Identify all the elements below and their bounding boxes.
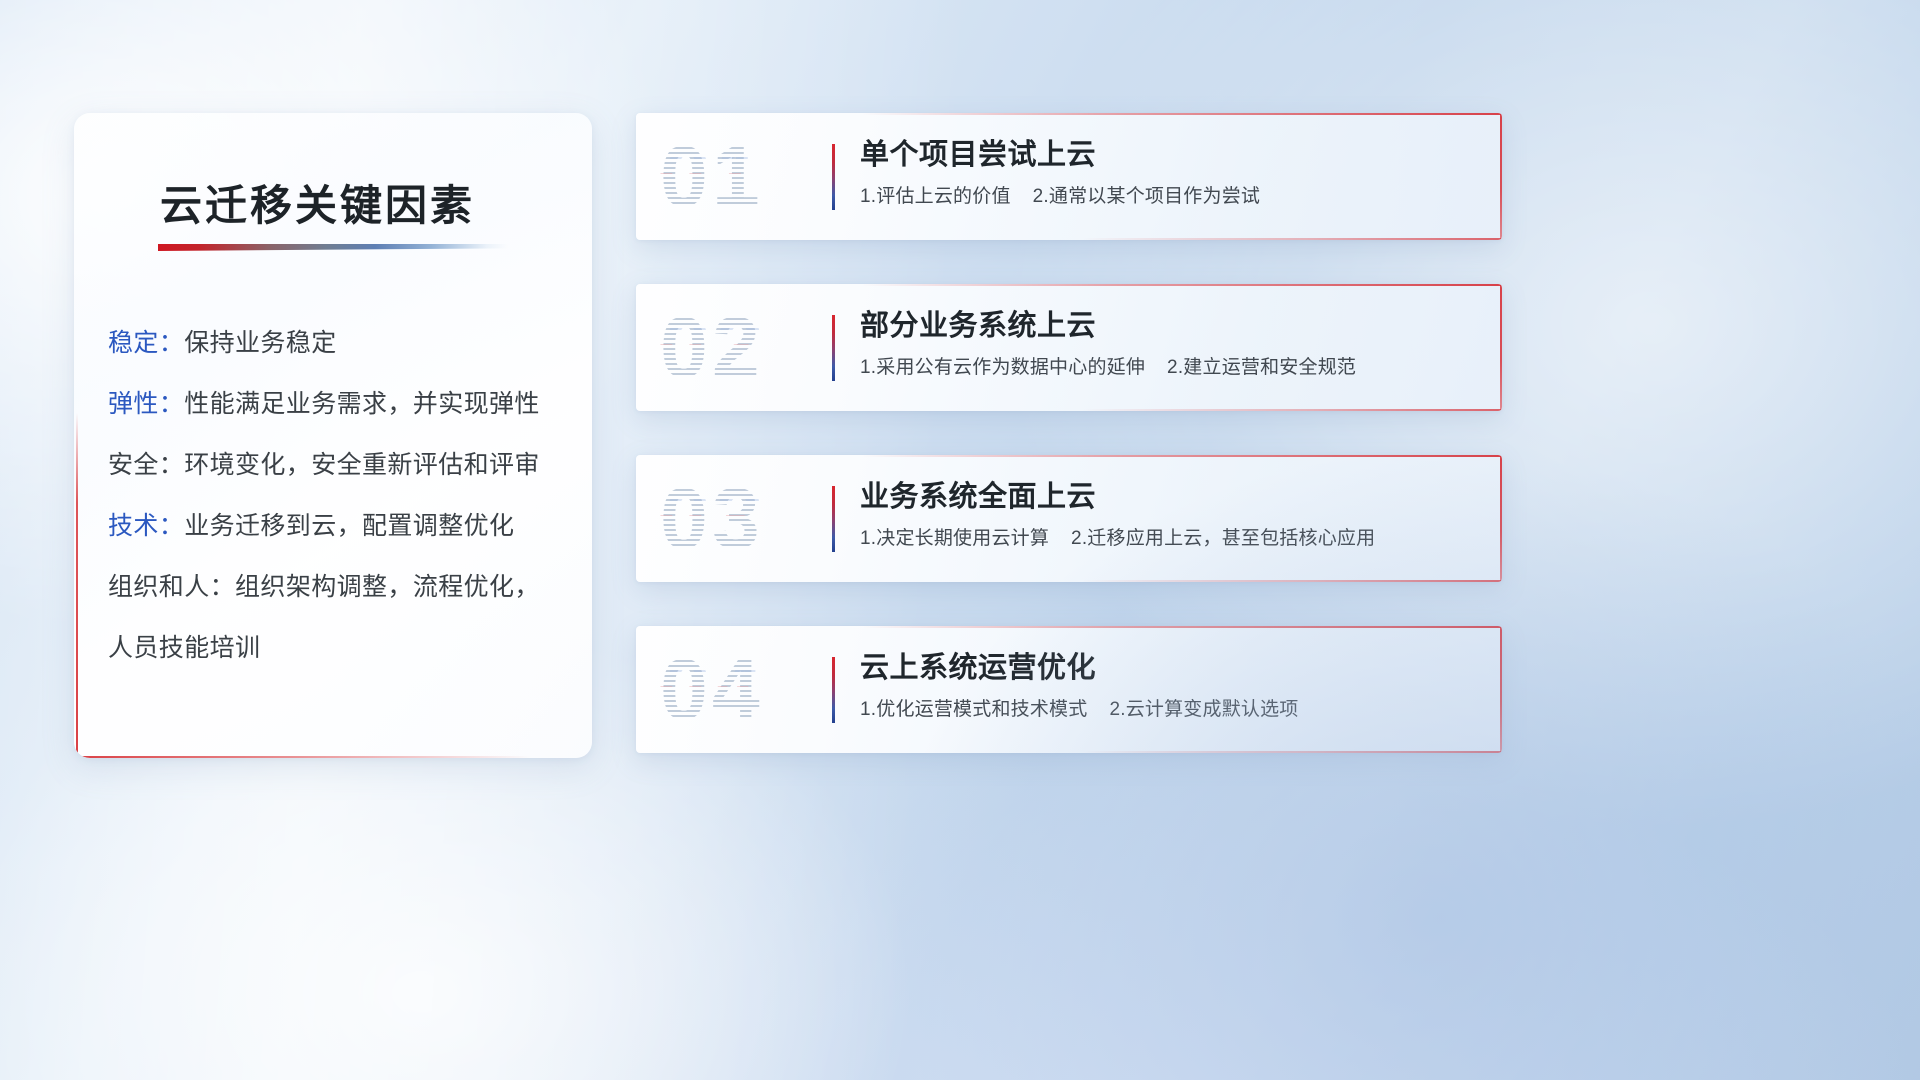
- card-subtitle: 1.优化运营模式和技术模式2.云计算变成默认选项: [860, 697, 1484, 723]
- card-accent-top: [862, 626, 1502, 628]
- card-accent-right: [1500, 455, 1502, 582]
- factor-value: 组织架构调整，流程优化，: [235, 573, 540, 601]
- factor-item-continuation: 人员技能培训: [108, 618, 578, 679]
- factor-item: 技术：业务迁移到云，配置调整优化: [108, 496, 578, 557]
- factor-key: 安全：: [108, 451, 184, 479]
- card-text-block: 单个项目尝试上云 1.评估上云的价值2.通常以某个项目作为尝试: [860, 135, 1484, 210]
- page-title: 云迁移关键因素: [160, 172, 475, 233]
- card-accent-bottom: [1082, 409, 1502, 411]
- card-point-1: 1.优化运营模式和技术模式: [860, 699, 1087, 720]
- stage-number: 04 04 04: [660, 640, 850, 740]
- slide-canvas: 云迁移关键因素 稳定：保持业务稳定 弹性：性能满足业务需求，并实现弹性 安全：环…: [0, 0, 1920, 1080]
- card-text-block: 部分业务系统上云 1.采用公有云作为数据中心的延伸2.建立运营和安全规范: [860, 306, 1484, 381]
- factor-value: 性能满足业务需求，并实现弹性: [184, 390, 540, 418]
- key-factors-panel: 云迁移关键因素 稳定：保持业务稳定 弹性：性能满足业务需求，并实现弹性 安全：环…: [74, 113, 592, 758]
- card-point-2: 2.通常以某个项目作为尝试: [1033, 186, 1260, 207]
- stage-card[interactable]: 01 01 01 单个项目尝试上云 1.评估上云的价值2.通常以某个项目作为尝试: [636, 113, 1502, 240]
- factor-value: 业务迁移到云，配置调整优化: [184, 512, 514, 540]
- card-accent-bottom: [1082, 751, 1502, 753]
- card-accent-bottom: [1082, 238, 1502, 240]
- card-divider-bar: [832, 315, 835, 381]
- card-title: 单个项目尝试上云: [860, 135, 1484, 175]
- stage-number-glitch-blue: 01: [664, 127, 768, 227]
- factor-key: 弹性：: [108, 390, 184, 418]
- factor-value: 环境变化，安全重新评估和评审: [184, 451, 540, 479]
- stage-card[interactable]: 02 02 02 部分业务系统上云 1.采用公有云作为数据中心的延伸2.建立运营…: [636, 284, 1502, 411]
- card-point-1: 1.决定长期使用云计算: [860, 528, 1049, 549]
- card-accent-right: [1500, 626, 1502, 753]
- card-point-2: 2.迁移应用上云，甚至包括核心应用: [1071, 528, 1375, 549]
- stage-number: 03 03 03: [660, 469, 850, 569]
- card-title: 部分业务系统上云: [860, 306, 1484, 346]
- stage-number-glitch-blue: 02: [664, 298, 768, 398]
- card-accent-right: [1500, 284, 1502, 411]
- title-underline-rule: [158, 244, 508, 251]
- card-subtitle: 1.采用公有云作为数据中心的延伸2.建立运营和安全规范: [860, 355, 1484, 381]
- card-divider-bar: [832, 144, 835, 210]
- card-accent-right: [1500, 113, 1502, 240]
- factor-list: 稳定：保持业务稳定 弹性：性能满足业务需求，并实现弹性 安全：环境变化，安全重新…: [108, 313, 578, 679]
- factor-item: 安全：环境变化，安全重新评估和评审: [108, 435, 578, 496]
- stage-card-list: 01 01 01 单个项目尝试上云 1.评估上云的价值2.通常以某个项目作为尝试…: [636, 113, 1502, 797]
- card-text-block: 业务系统全面上云 1.决定长期使用云计算2.迁移应用上云，甚至包括核心应用: [860, 477, 1484, 552]
- stage-number-glitch-blue: 03: [664, 469, 768, 569]
- card-point-2: 2.建立运营和安全规范: [1167, 357, 1356, 378]
- card-accent-top: [862, 113, 1502, 115]
- factor-item: 弹性：性能满足业务需求，并实现弹性: [108, 374, 578, 435]
- card-divider-bar: [832, 486, 835, 552]
- stage-number: 02 02 02: [660, 298, 850, 398]
- factor-key: 组织和人：: [108, 573, 235, 601]
- card-accent-top: [862, 455, 1502, 457]
- factor-item: 稳定：保持业务稳定: [108, 313, 578, 374]
- card-subtitle: 1.评估上云的价值2.通常以某个项目作为尝试: [860, 184, 1484, 210]
- factor-key: 稳定：: [108, 329, 184, 357]
- stage-number: 01 01 01: [660, 127, 850, 227]
- card-subtitle: 1.决定长期使用云计算2.迁移应用上云，甚至包括核心应用: [860, 526, 1484, 552]
- stage-card[interactable]: 04 04 04 云上系统运营优化 1.优化运营模式和技术模式2.云计算变成默认…: [636, 626, 1502, 753]
- card-title: 云上系统运营优化: [860, 648, 1484, 688]
- factor-item: 组织和人：组织架构调整，流程优化，: [108, 557, 578, 618]
- card-divider-bar: [832, 657, 835, 723]
- factor-value: 人员技能培训: [108, 634, 260, 662]
- factor-key: 技术：: [108, 512, 184, 540]
- card-accent-bottom: [1082, 580, 1502, 582]
- card-text-block: 云上系统运营优化 1.优化运营模式和技术模式2.云计算变成默认选项: [860, 648, 1484, 723]
- card-point-2: 2.云计算变成默认选项: [1109, 699, 1298, 720]
- factor-value: 保持业务稳定: [184, 329, 336, 357]
- card-title: 业务系统全面上云: [860, 477, 1484, 517]
- card-accent-top: [862, 284, 1502, 286]
- stage-card[interactable]: 03 03 03 业务系统全面上云 1.决定长期使用云计算2.迁移应用上云，甚至…: [636, 455, 1502, 582]
- card-point-1: 1.采用公有云作为数据中心的延伸: [860, 357, 1145, 378]
- stage-number-glitch-blue: 04: [664, 640, 768, 740]
- card-point-1: 1.评估上云的价值: [860, 186, 1011, 207]
